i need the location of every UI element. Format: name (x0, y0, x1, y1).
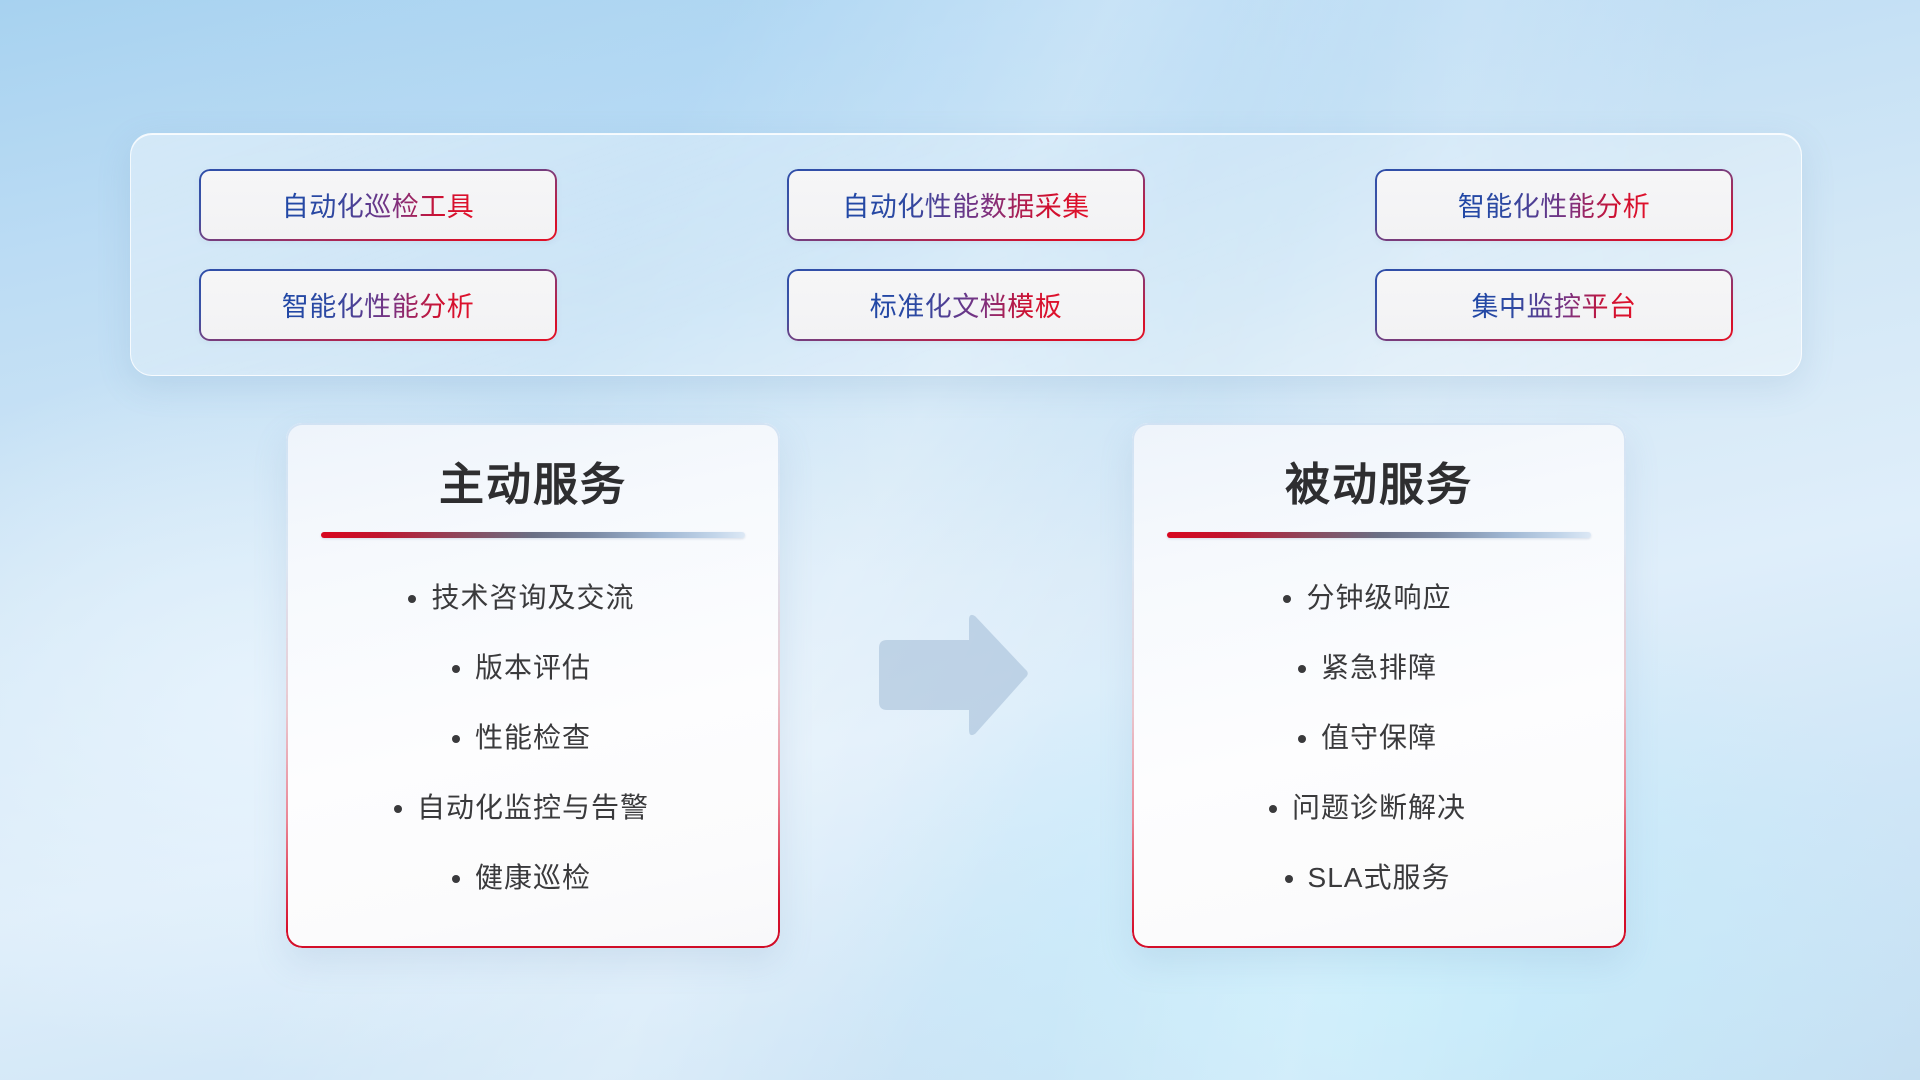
right-arrow-icon (873, 614, 1031, 736)
list-item: SLA式服务 (1308, 856, 1451, 896)
list-item: 问题诊断解决 (1292, 786, 1466, 826)
reactive-service-card: 被动服务 分钟级响应 紧急排障 值守保障 问题诊断解决 SLA式服务 (1132, 423, 1626, 948)
list-item: 分钟级响应 (1306, 576, 1451, 616)
capability-tag-panel: 自动化巡检工具 自动化性能数据采集 智能化性能分析 智能化性能分析 标准化文档模… (130, 133, 1802, 376)
card-title: 主动服务 (439, 460, 627, 510)
tag-row-2: 智能化性能分析 标准化文档模板 集中监控平台 (199, 269, 1733, 341)
card-title: 被动服务 (1285, 460, 1473, 510)
tag-chip-standard-doc-template[interactable]: 标准化文档模板 (787, 269, 1145, 341)
tag-label: 自动化性能数据采集 (842, 185, 1090, 224)
list-item: 性能检查 (475, 716, 591, 756)
card-body: 主动服务 技术咨询及交流 版本评估 性能检查 自动化监控与告警 健康巡检 (286, 423, 780, 948)
list-item: 版本评估 (475, 646, 591, 686)
tag-chip-intelligent-perf-analysis-top[interactable]: 智能化性能分析 (1375, 169, 1733, 241)
list-item: 健康巡检 (475, 856, 591, 896)
title-divider (321, 532, 745, 538)
list-item: 紧急排障 (1321, 646, 1437, 686)
tag-label: 集中监控平台 (1472, 285, 1637, 324)
tag-row-1: 自动化巡检工具 自动化性能数据采集 智能化性能分析 (199, 169, 1733, 241)
tag-chip-auto-inspection-tool[interactable]: 自动化巡检工具 (199, 169, 557, 241)
list-item: 技术咨询及交流 (431, 576, 634, 616)
service-item-list: 技术咨询及交流 版本评估 性能检查 自动化监控与告警 健康巡检 (417, 576, 649, 896)
tag-label: 自动化巡检工具 (282, 185, 475, 224)
tag-label: 智能化性能分析 (282, 285, 475, 324)
tag-label: 智能化性能分析 (1458, 185, 1651, 224)
tag-chip-auto-perf-data-collection[interactable]: 自动化性能数据采集 (787, 169, 1145, 241)
list-item: 值守保障 (1321, 716, 1437, 756)
card-body: 被动服务 分钟级响应 紧急排障 值守保障 问题诊断解决 SLA式服务 (1132, 423, 1626, 948)
list-item: 自动化监控与告警 (417, 786, 649, 826)
diagram-canvas: 自动化巡检工具 自动化性能数据采集 智能化性能分析 智能化性能分析 标准化文档模… (0, 0, 1920, 1080)
title-divider (1167, 532, 1591, 538)
tag-chip-intelligent-perf-analysis-bottom[interactable]: 智能化性能分析 (199, 269, 557, 341)
tag-label: 标准化文档模板 (870, 285, 1063, 324)
service-item-list: 分钟级响应 紧急排障 值守保障 问题诊断解决 SLA式服务 (1292, 576, 1466, 896)
tag-chip-centralized-monitoring-platform[interactable]: 集中监控平台 (1375, 269, 1733, 341)
proactive-service-card: 主动服务 技术咨询及交流 版本评估 性能检查 自动化监控与告警 健康巡检 (286, 423, 780, 948)
